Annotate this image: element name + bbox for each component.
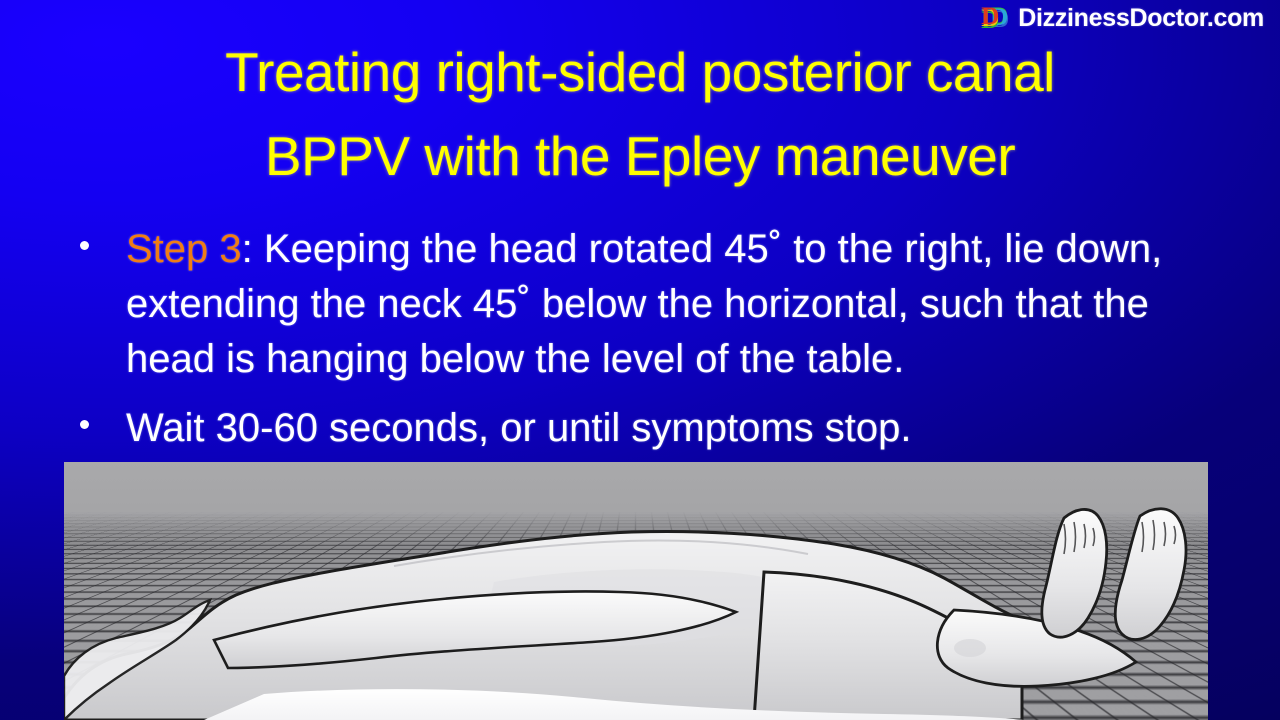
illustration-image — [64, 462, 1208, 720]
bullet-dot-icon — [80, 420, 89, 429]
list-item: Wait 30-60 seconds, or until symptoms st… — [70, 401, 1220, 456]
dizziness-doctor-logo-icon: D D — [981, 4, 1011, 32]
page-title: Treating right-sided posterior canal BPP… — [60, 30, 1220, 198]
bullet-text: Step 3: Keeping the head rotated 45˚ to … — [126, 222, 1220, 387]
brand-name: DizzinessDoctor.com — [1018, 4, 1264, 33]
step-separator: : — [242, 227, 264, 271]
title-line-2: BPPV with the Epley maneuver — [60, 114, 1220, 198]
supine-figure-illustration — [64, 462, 1208, 720]
step-label: Step 3 — [126, 227, 242, 271]
bullet-body: Keeping the head rotated 45˚ to the righ… — [126, 227, 1162, 381]
logo-glyph-front: D — [981, 4, 999, 30]
list-item: Step 3: Keeping the head rotated 45˚ to … — [70, 222, 1220, 387]
brand-watermark[interactable]: D D DizzinessDoctor.com — [981, 0, 1264, 36]
bullet-list: Step 3: Keeping the head rotated 45˚ to … — [70, 222, 1220, 470]
slide-canvas: D D DizzinessDoctor.com Treating right-s… — [0, 0, 1280, 720]
figure-knee-highlight — [954, 639, 986, 657]
bullet-text: Wait 30-60 seconds, or until symptoms st… — [126, 401, 1220, 456]
bullet-body: Wait 30-60 seconds, or until symptoms st… — [126, 406, 912, 450]
title-line-1: Treating right-sided posterior canal — [60, 30, 1220, 114]
bullet-dot-icon — [80, 241, 89, 250]
